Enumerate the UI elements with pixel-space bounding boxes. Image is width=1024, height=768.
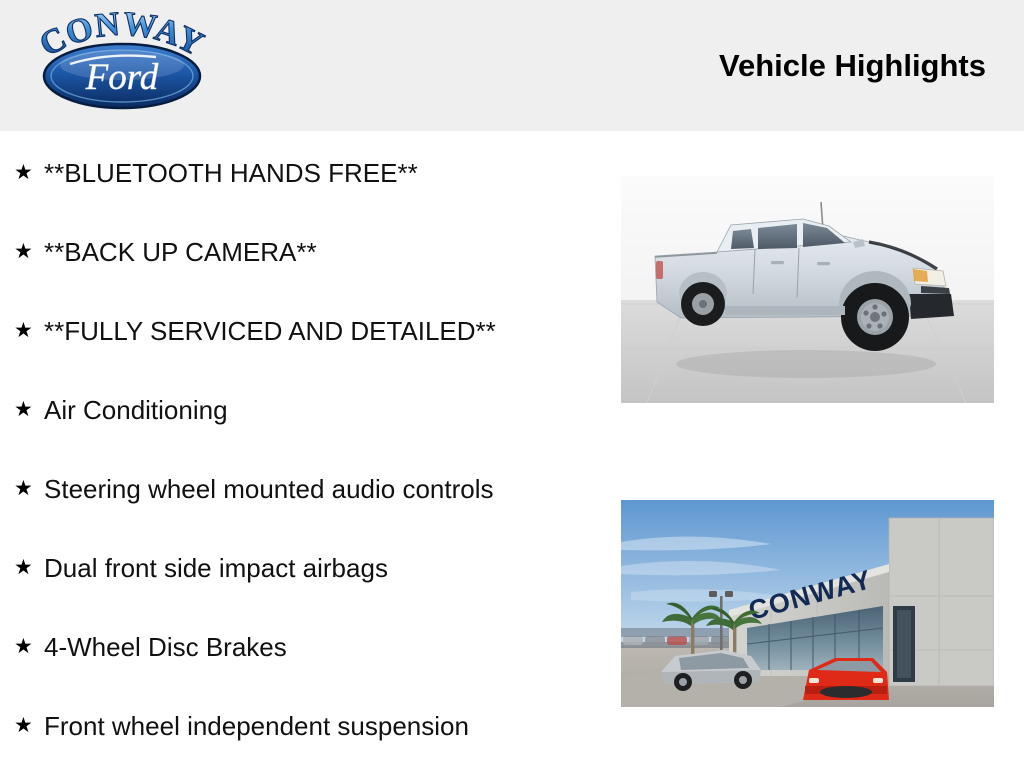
- list-item: ★ Dual front side impact airbags: [14, 551, 388, 585]
- list-item: ★ **FULLY SERVICED AND DETAILED**: [14, 314, 496, 348]
- highlight-label: **BLUETOOTH HANDS FREE**: [44, 158, 418, 188]
- list-item: ★ **BLUETOOTH HANDS FREE**: [14, 156, 418, 190]
- conway-ford-logo: CONWAY Ford: [28, 12, 216, 113]
- highlight-label: **BACK UP CAMERA**: [44, 237, 317, 267]
- highlight-label: Dual front side impact airbags: [44, 553, 388, 583]
- star-icon: ★: [14, 240, 35, 264]
- page-header: CONWAY Ford Vehicle Highlights: [0, 0, 1024, 131]
- page-title: Vehicle Highlights: [719, 48, 986, 84]
- dealership-photo: CONWAY: [621, 500, 994, 707]
- star-icon: ★: [14, 319, 35, 343]
- highlight-label: 4-Wheel Disc Brakes: [44, 632, 287, 662]
- list-item: ★ Air Conditioning: [14, 393, 228, 427]
- list-item: ★ Front wheel independent suspension: [14, 709, 469, 743]
- list-item: ★ Steering wheel mounted audio controls: [14, 472, 494, 506]
- star-icon: ★: [14, 161, 35, 185]
- vehicle-highlights-list: ★ **BLUETOOTH HANDS FREE** ★ **BACK UP C…: [0, 131, 610, 768]
- star-icon: ★: [14, 398, 35, 422]
- highlight-label: Steering wheel mounted audio controls: [44, 474, 494, 504]
- star-icon: ★: [14, 635, 35, 659]
- list-item: ★ **BACK UP CAMERA**: [14, 235, 317, 269]
- star-icon: ★: [14, 556, 35, 580]
- highlight-label: Air Conditioning: [44, 395, 228, 425]
- star-icon: ★: [14, 714, 35, 738]
- list-item: ★ 4-Wheel Disc Brakes: [14, 630, 287, 664]
- highlight-label: **FULLY SERVICED AND DETAILED**: [44, 316, 496, 346]
- vehicle-photo: [621, 176, 994, 403]
- svg-text:Ford: Ford: [85, 57, 159, 98]
- highlight-label: Front wheel independent suspension: [44, 711, 469, 741]
- star-icon: ★: [14, 477, 35, 501]
